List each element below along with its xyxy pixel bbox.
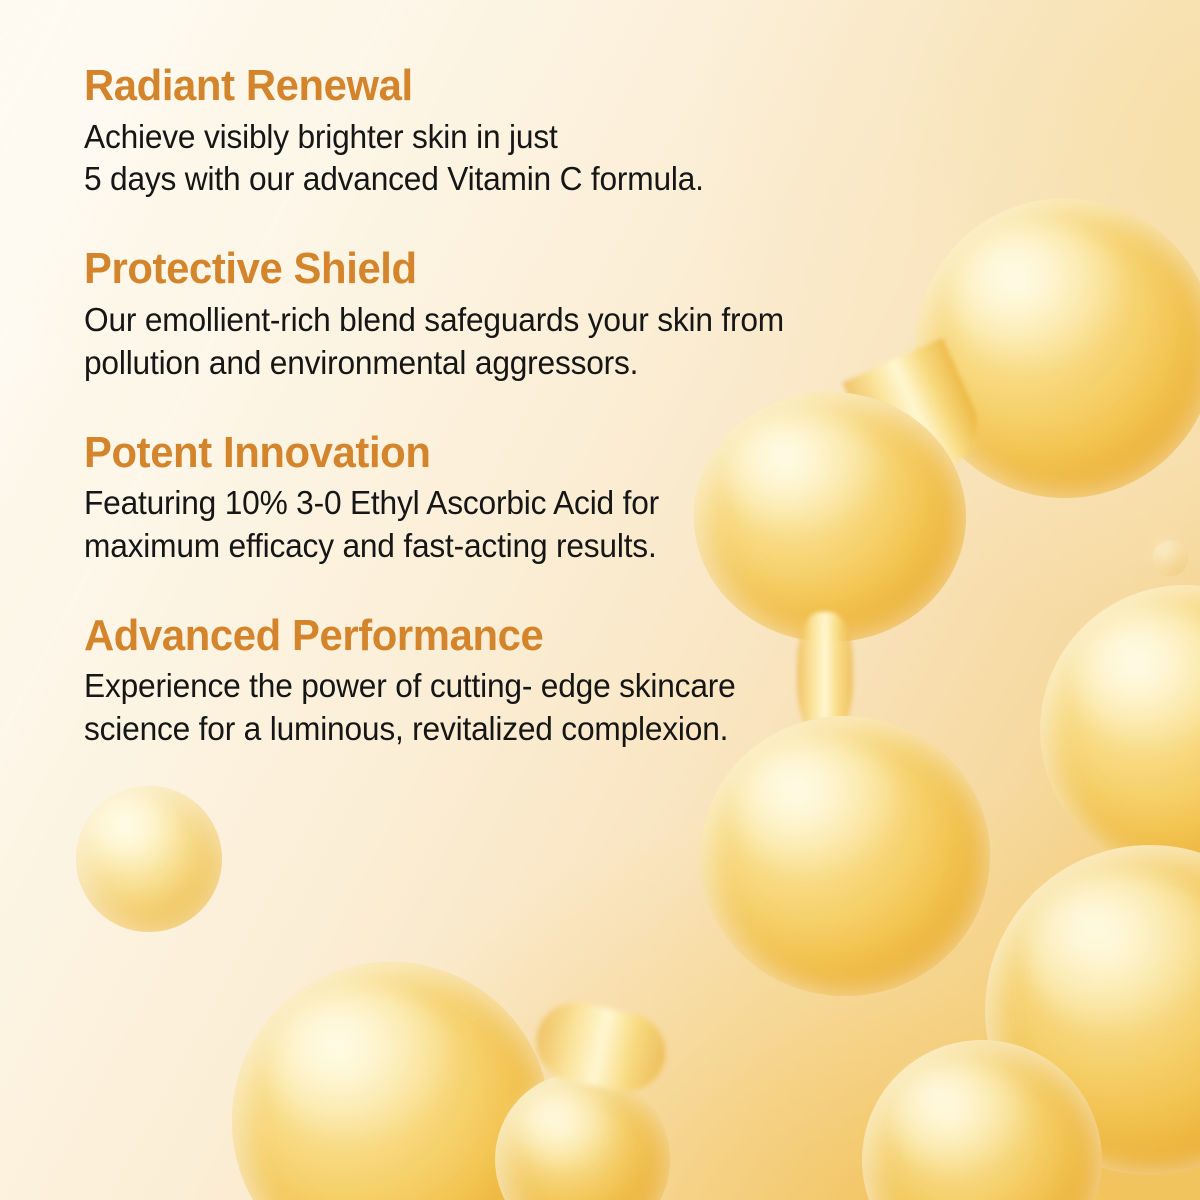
- feature-body-line: Our emollient-rich blend safeguards your…: [84, 299, 890, 342]
- feature-list: Radiant Renewal Achieve visibly brighter…: [84, 62, 924, 751]
- feature-title: Potent Innovation: [84, 429, 882, 477]
- feature-body-line: Achieve visibly brighter skin in just: [84, 116, 890, 159]
- feature-block-advanced-performance: Advanced Performance Experience the powe…: [84, 612, 924, 751]
- feature-body-line: 5 days with our advanced Vitamin C formu…: [84, 158, 890, 201]
- feature-block-potent-innovation: Potent Innovation Featuring 10% 3-0 Ethy…: [84, 429, 924, 568]
- skincare-feature-poster: Radiant Renewal Achieve visibly brighter…: [0, 0, 1200, 1200]
- feature-block-radiant-renewal: Radiant Renewal Achieve visibly brighter…: [84, 62, 924, 201]
- feature-body-line: pollution and environmental aggressors.: [84, 342, 890, 385]
- feature-block-protective-shield: Protective Shield Our emollient-rich ble…: [84, 245, 924, 384]
- feature-body-line: Featuring 10% 3-0 Ethyl Ascorbic Acid fo…: [84, 482, 890, 525]
- feature-body-line: maximum efficacy and fast-acting results…: [84, 525, 890, 568]
- feature-body-line: Experience the power of cutting- edge sk…: [84, 665, 890, 708]
- feature-title: Radiant Renewal: [84, 62, 882, 110]
- feature-title: Protective Shield: [84, 245, 882, 293]
- feature-body-line: science for a luminous, revitalized comp…: [84, 708, 890, 751]
- feature-title: Advanced Performance: [84, 612, 882, 660]
